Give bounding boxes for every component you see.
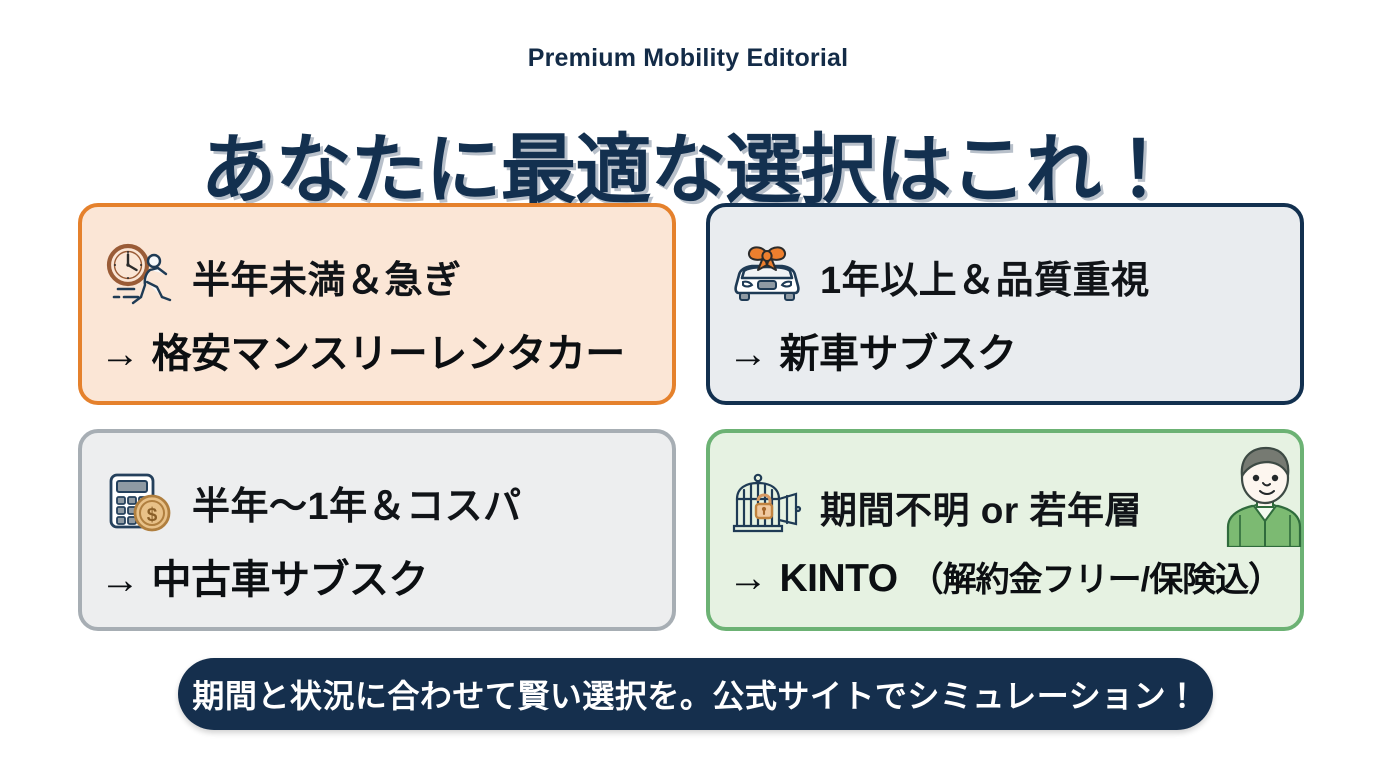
card-condition-label: 期間不明 or 若年層 [820,480,1142,534]
running-clock-icon [100,237,178,315]
eyebrow-label: Premium Mobility Editorial [0,44,1376,73]
card-long-term-quality[interactable]: 1年以上＆品質重視 → 新車サブスク [706,203,1304,405]
calculator-coin-icon: $ [100,463,178,541]
card-header-row: 期間不明 or 若年層 [728,464,1280,550]
birdcage-unlock-icon [728,468,806,546]
card-recommendation-label: 新車サブスク [780,321,1017,379]
card-short-term-rush[interactable]: 半年未満＆急ぎ → 格安マンスリーレンタカー [78,203,676,405]
card-recommendation-row: → 中古車サブスク [100,547,652,605]
page-title: あなたに最適な選択はこれ！ [0,131,1376,211]
card-recommendation-row: → KINTO （解約金フリー/保険込） [728,552,1280,601]
slide-canvas: Premium Mobility Editorial あなたに最適な選択はこれ！ [0,0,1376,768]
card-recommendation-label: 中古車サブスク [152,547,429,605]
card-condition-label: 半年未満＆急ぎ [192,249,462,304]
recommendation-card-grid: 半年未満＆急ぎ → 格安マンスリーレンタカー [78,203,1304,631]
card-recommendation-label: KINTO [780,557,898,601]
arrow-right-icon: → [728,556,768,601]
card-recommendation-row: → 格安マンスリーレンタカー [100,321,652,379]
card-condition-label: 半年〜1年＆コスパ [192,475,522,530]
card-recommendation-row: → 新車サブスク [728,321,1280,379]
card-header-row: 1年以上＆品質重視 [728,233,1280,319]
arrow-right-icon: → [100,332,140,377]
svg-text:$: $ [147,505,158,526]
card-mid-term-value[interactable]: $ 半年〜1年＆コスパ → 中古車サブスク [78,429,676,631]
card-condition-label: 1年以上＆品質重視 [820,249,1150,304]
arrow-right-icon: → [728,332,768,377]
cta-label: 期間と状況に合わせて賢い選択を。公式サイトでシミュレーション！ [192,671,1198,717]
card-recommendation-label: 格安マンスリーレンタカー [152,321,625,379]
card-header-row: 半年未満＆急ぎ [100,233,652,319]
card-header-row: $ 半年〜1年＆コスパ [100,459,652,545]
card-recommendation-note: （解約金フリー/保険込） [910,552,1281,601]
arrow-right-icon: → [100,558,140,603]
card-unknown-term-youth[interactable]: 期間不明 or 若年層 → KINTO （解約金フリー/保険込） [706,429,1304,631]
cta-banner[interactable]: 期間と状況に合わせて賢い選択を。公式サイトでシミュレーション！ [178,658,1213,730]
gift-car-icon [728,237,806,315]
